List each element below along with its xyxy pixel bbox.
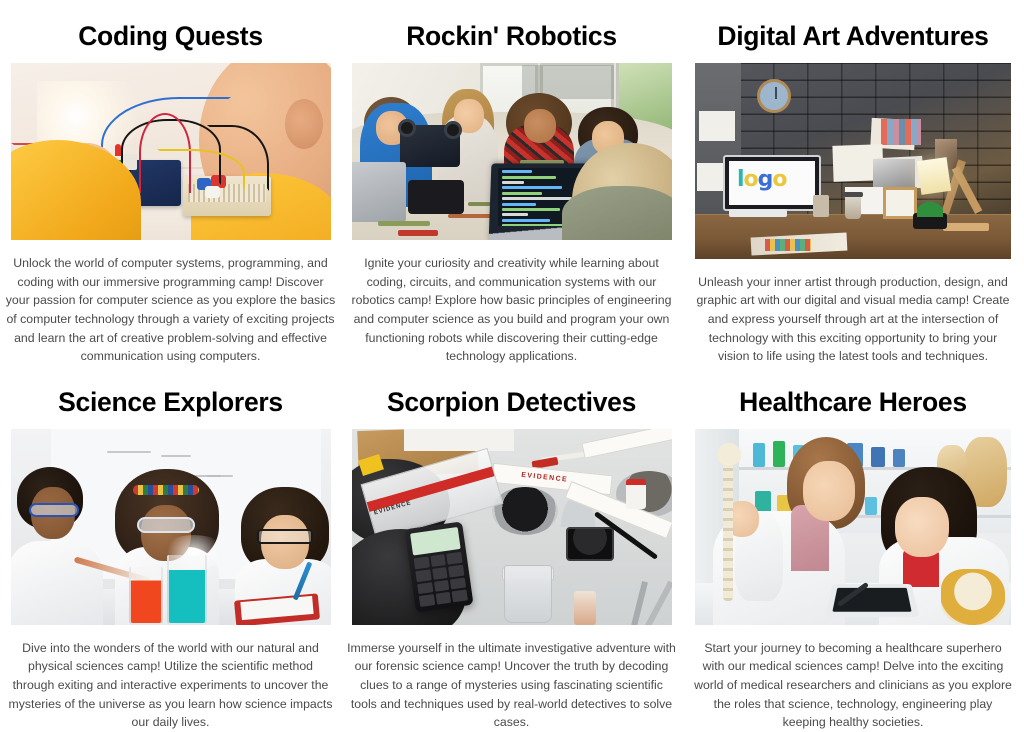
card-description: Ignite your curiosity and creativity whi… bbox=[347, 254, 677, 366]
desk-plant bbox=[917, 195, 943, 217]
powder-jar bbox=[566, 527, 614, 561]
science-explorers-photo bbox=[11, 429, 331, 624]
paper-document bbox=[404, 429, 514, 451]
laptop-secondary bbox=[352, 162, 406, 222]
student-face bbox=[895, 497, 949, 557]
robot-wheel-2 bbox=[444, 121, 462, 139]
phone-keypad bbox=[413, 552, 467, 607]
card-title: Science Explorers bbox=[0, 386, 341, 419]
rockin-robotics-photo bbox=[352, 63, 672, 240]
healthcare-heroes-photo-art bbox=[695, 429, 1011, 624]
kid-1-lab-coat bbox=[11, 541, 103, 624]
digital-art-photo-art: logo bbox=[695, 63, 1011, 258]
science-explorers-photo-art bbox=[11, 429, 331, 624]
beaker-red-liquid bbox=[129, 567, 163, 625]
rockin-robotics-photo-art bbox=[352, 63, 672, 240]
card-title: Digital Art Adventures bbox=[682, 20, 1024, 53]
scorpion-detectives-photo: EVIDENCE EVIDENCE bbox=[352, 429, 672, 624]
bottle-1 bbox=[753, 443, 765, 467]
card-description: Unlock the world of computer systems, pr… bbox=[6, 254, 336, 366]
dropper-bottle bbox=[574, 591, 596, 625]
card-title: Rockin' Robotics bbox=[341, 20, 682, 53]
wall-clock bbox=[757, 79, 791, 113]
palette-strip bbox=[881, 119, 921, 145]
tweezers-1 bbox=[644, 580, 672, 624]
card-description: Immerse yourself in the ultimate investi… bbox=[347, 639, 677, 732]
mobile-phone-evidence bbox=[404, 521, 473, 612]
printed-color-swatches bbox=[765, 239, 811, 251]
coding-quests-photo bbox=[11, 63, 331, 240]
skull-model bbox=[717, 443, 741, 465]
child-ear bbox=[285, 99, 323, 149]
wire-part-4 bbox=[398, 230, 438, 236]
kid-2-goggles bbox=[137, 517, 195, 533]
kid-3-face bbox=[524, 109, 556, 143]
metal-dish bbox=[492, 487, 558, 535]
reagent-bottle bbox=[626, 479, 646, 509]
wire-part-2 bbox=[448, 214, 494, 218]
whiteboard-writing-1 bbox=[107, 451, 151, 453]
program-card-scorpion-detectives[interactable]: Scorpion Detectives EVIDENCE bbox=[341, 366, 682, 732]
robot-wheel-1 bbox=[398, 119, 416, 137]
kid-3-glasses bbox=[257, 529, 313, 544]
bottle-5 bbox=[871, 447, 885, 467]
coding-quests-photo-art bbox=[11, 63, 331, 240]
bottle-6 bbox=[893, 449, 905, 467]
program-card-healthcare-heroes[interactable]: Healthcare Heroes bbox=[682, 366, 1024, 732]
kid-2-headband bbox=[133, 485, 199, 495]
tweezers-2 bbox=[630, 581, 648, 625]
bw-photo bbox=[873, 159, 915, 189]
coffee-cup-lid bbox=[843, 192, 863, 197]
healthcare-heroes-photo bbox=[695, 429, 1011, 624]
spine-model bbox=[723, 451, 733, 601]
evidence-label: EVIDENCE bbox=[520, 472, 567, 484]
scorpion-detectives-photo-art: EVIDENCE EVIDENCE bbox=[352, 429, 672, 624]
instructor-face bbox=[803, 461, 855, 521]
card-description: Start your journey to becoming a healthc… bbox=[692, 639, 1014, 732]
lamp-shade bbox=[917, 157, 951, 195]
evidence-box-3 bbox=[581, 429, 672, 459]
bone-model bbox=[941, 569, 1005, 625]
wire-part-3 bbox=[378, 221, 430, 226]
keyboard bbox=[729, 209, 787, 217]
phone-screen bbox=[410, 527, 461, 555]
program-card-coding-quests[interactable]: Coding Quests bbox=[0, 0, 341, 366]
bottle-10 bbox=[865, 497, 877, 515]
pen-cup bbox=[813, 195, 829, 217]
kid-5-shirt bbox=[562, 186, 672, 240]
card-title: Healthcare Heroes bbox=[682, 386, 1024, 419]
whiteboard-writing-2 bbox=[161, 455, 191, 457]
card-title: Scorpion Detectives bbox=[341, 386, 682, 419]
specimen-jar bbox=[504, 565, 552, 623]
digital-art-adventures-photo: logo bbox=[695, 63, 1011, 258]
card-description: Unleash your inner artist through produc… bbox=[692, 273, 1014, 366]
kid-1-goggles bbox=[29, 503, 79, 517]
controller bbox=[408, 180, 464, 214]
wood-desk bbox=[695, 215, 1011, 259]
logo-artwork-text: logo bbox=[737, 167, 787, 192]
desk-picture-frame bbox=[883, 187, 917, 219]
program-card-science-explorers[interactable]: Science Explorers bbox=[0, 366, 341, 732]
beaker-cyan-liquid bbox=[167, 555, 207, 625]
card-title: Coding Quests bbox=[0, 20, 341, 53]
lamp-base bbox=[943, 223, 989, 231]
color-swatch-sheet-1 bbox=[699, 111, 735, 141]
program-card-rockin-robotics[interactable]: Rockin' Robotics bbox=[341, 0, 682, 366]
whiteboard-writing-5 bbox=[207, 475, 233, 477]
program-card-grid: Coding Quests bbox=[0, 0, 1024, 732]
program-card-digital-art-adventures[interactable]: Digital Art Adventures logo bbox=[682, 0, 1024, 366]
bottle-2 bbox=[773, 441, 785, 467]
card-description: Dive into the wonders of the world with … bbox=[6, 639, 336, 732]
coffee-cup bbox=[845, 195, 861, 219]
